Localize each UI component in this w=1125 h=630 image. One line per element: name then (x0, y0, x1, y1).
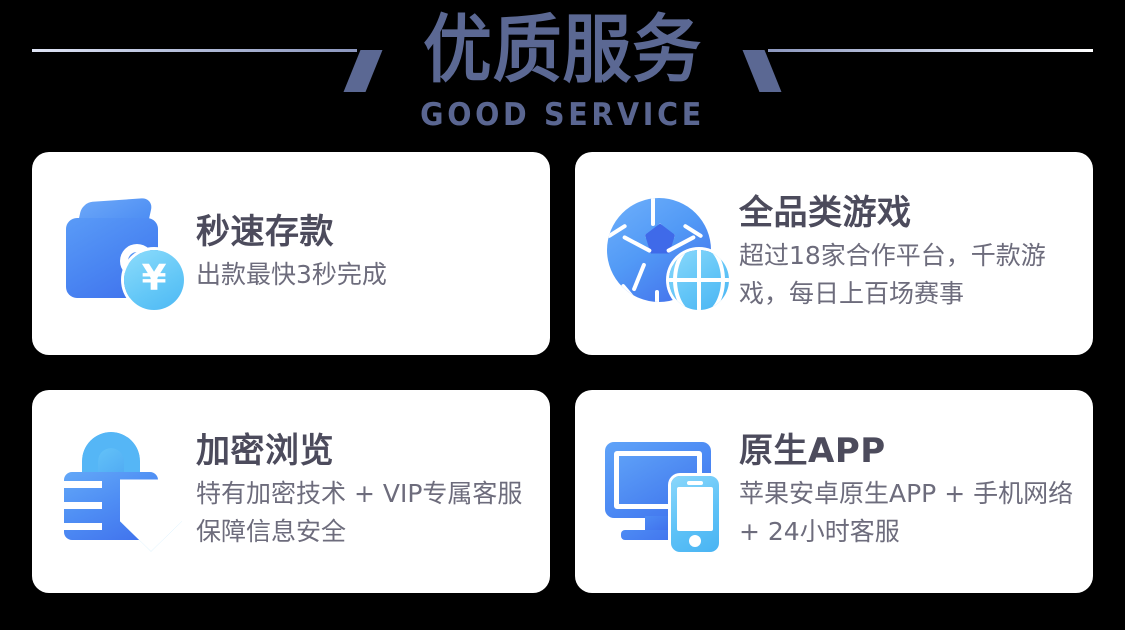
card-title: 秒速存款 (196, 211, 387, 253)
header-rule-right (768, 49, 1093, 52)
card-title: 全品类游戏 (739, 192, 1087, 234)
card-text-block: 原生APP 苹果安卓原生APP + 手机网络 + 24小时客服 (739, 430, 1087, 553)
phone-speaker (687, 481, 703, 485)
service-card-native-app[interactable]: 原生APP 苹果安卓原生APP + 手机网络 + 24小时客服 (575, 390, 1093, 593)
yen-symbol: ¥ (141, 261, 166, 297)
card-description: 出款最快3秒完成 (196, 256, 387, 294)
padlock-slot (64, 502, 102, 509)
soccer-basketball-icon (601, 188, 733, 320)
shield-icon (120, 480, 182, 552)
card-title: 加密浏览 (196, 430, 544, 472)
service-card-encrypted-browsing[interactable]: 加密浏览 特有加密技术 + VIP专属客服保障信息安全 (32, 390, 550, 593)
cross-icon (132, 506, 170, 520)
wallet-yen-icon: ¥ (58, 188, 190, 320)
soccer-seam (632, 262, 647, 291)
page-header: 优质服务 GOOD SERVICE (0, 0, 1125, 152)
padlock-slot (64, 523, 102, 530)
card-title: 原生APP (739, 430, 1087, 472)
phone-home-button (689, 535, 701, 547)
lock-shield-icon (58, 426, 190, 558)
card-text-block: 全品类游戏 超过18家合作平台，千款游戏，每日上百场赛事 (739, 192, 1087, 315)
card-description: 超过18家合作平台，千款游戏，每日上百场赛事 (739, 237, 1087, 313)
service-card-instant-deposit[interactable]: ¥ 秒速存款 出款最快3秒完成 (32, 152, 550, 355)
service-card-grid: ¥ 秒速存款 出款最快3秒完成 (32, 152, 1093, 593)
service-card-all-games[interactable]: 全品类游戏 超过18家合作平台，千款游戏，每日上百场赛事 (575, 152, 1093, 355)
card-text-block: 秒速存款 出款最快3秒完成 (196, 211, 387, 296)
monitor-phone-icon (601, 426, 733, 558)
phone-icon (671, 476, 719, 552)
basketball-icon (669, 250, 729, 310)
padlock-slot (64, 481, 102, 488)
phone-screen (677, 487, 713, 531)
basketball-curve (673, 250, 725, 310)
card-text-block: 加密浏览 特有加密技术 + VIP专属客服保障信息安全 (196, 430, 544, 553)
card-description: 苹果安卓原生APP + 手机网络 + 24小时客服 (739, 475, 1087, 551)
soccer-seam (651, 198, 655, 226)
soccer-seam (655, 290, 659, 302)
yen-coin-icon: ¥ (124, 250, 184, 310)
card-description: 特有加密技术 + VIP专属客服保障信息安全 (196, 475, 544, 551)
page-subtitle: GOOD SERVICE (45, 97, 1080, 133)
